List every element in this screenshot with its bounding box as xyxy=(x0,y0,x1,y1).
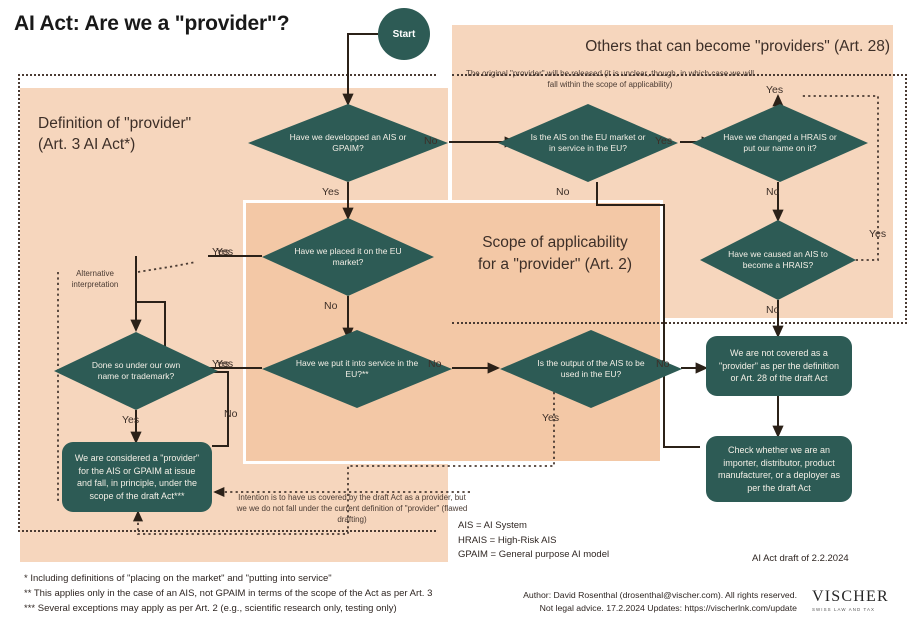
result-check-importer-distributor-label: Check whether we are an importer, distri… xyxy=(714,444,844,494)
footnote-2: ** This applies only in the case of an A… xyxy=(24,586,432,601)
decision-own-name-or-trademark-label: Done so under our own name or trademark? xyxy=(54,360,218,382)
decision-ais-on-eu-market-label: Is the AIS on the EU market or in servic… xyxy=(498,132,678,154)
panel-definition-title-line2: (Art. 3 AI Act*) xyxy=(38,134,288,155)
footnote-3: *** Several exceptions may apply as per … xyxy=(24,601,432,616)
legend-item-gpaim: GPAIM = General purpose AI model xyxy=(458,548,609,563)
decision-developed-ais-or-gpaim-label: Have we developped an AIS or GPAIM? xyxy=(248,132,448,154)
author-line-1: Author: David Rosenthal (drosenthal@visc… xyxy=(512,589,797,602)
edge-label-output-eu-yes: Yes xyxy=(542,412,559,424)
note-intention: Intention is to have us covered by the d… xyxy=(232,492,472,525)
edge-label-changed-hrais-no: No xyxy=(766,186,779,198)
decision-changed-hrais-label: Have we changed a HRAIS or put our name … xyxy=(692,132,868,154)
start-node-label: Start xyxy=(393,29,416,40)
panel-definition-title: Definition of "provider" (Art. 3 AI Act*… xyxy=(38,113,288,155)
author-line-2: Not legal advice. 17.2.2024 Updates: htt… xyxy=(512,602,797,615)
edge-label-developed-no: No xyxy=(424,135,437,147)
start-node[interactable]: Start xyxy=(378,8,430,60)
draft-date: AI Act draft of 2.2.2024 xyxy=(752,553,849,564)
edge-label-ais-on-market-no: No xyxy=(556,186,569,198)
edge-label-ais-on-market-yes: Yes xyxy=(655,135,672,147)
result-not-covered-as-provider[interactable]: We are not covered as a "provider" as pe… xyxy=(706,336,852,396)
edge-label-caused-hrais-no: No xyxy=(766,304,779,316)
edge-label-caused-hrais-yes: Yes xyxy=(869,228,886,240)
edge-label-own-name-no: No xyxy=(224,408,237,420)
author-credit: Author: David Rosenthal (drosenthal@visc… xyxy=(512,589,797,615)
panel-art28-title: Others that can become "providers" (Art.… xyxy=(470,36,890,57)
result-considered-provider[interactable]: We are considered a "provider" for the A… xyxy=(62,442,212,512)
edge-label-placed-market-no: No xyxy=(324,300,337,312)
footnotes: * Including definitions of "placing on t… xyxy=(24,571,432,616)
note-alternative-interpretation: Alternative interpretation xyxy=(52,268,138,290)
dotted-group-art28 xyxy=(452,74,907,324)
edge-label-output-eu-no: No xyxy=(656,358,669,370)
panel-scope-title-line1: Scope of applicability xyxy=(455,232,655,254)
page-title: AI Act: Are we a "provider"? xyxy=(14,12,289,36)
legend: AIS = AI System HRAIS = High-Risk AIS GP… xyxy=(458,519,609,563)
edge-label-changed-hrais-yes: Yes xyxy=(766,84,783,96)
vischer-logo: VISCHER SWISS LAW AND TAX xyxy=(812,588,889,612)
legend-item-hrais: HRAIS = High-Risk AIS xyxy=(458,534,609,549)
result-check-importer-distributor[interactable]: Check whether we are an importer, distri… xyxy=(706,436,852,502)
edge-label-developed-yes: Yes xyxy=(322,186,339,198)
edge-label-put-service-no: No xyxy=(428,358,441,370)
vischer-logo-tagline: SWISS LAW AND TAX xyxy=(812,607,889,612)
footnote-1: * Including definitions of "placing on t… xyxy=(24,571,432,586)
result-considered-provider-label: We are considered a "provider" for the A… xyxy=(70,452,204,502)
note-original-provider: The original "provider" will be released… xyxy=(460,68,760,90)
result-not-covered-as-provider-label: We are not covered as a "provider" as pe… xyxy=(714,347,844,385)
panel-scope-title: Scope of applicability for a "provider" … xyxy=(455,232,655,276)
edge-label-own-name-yes: Yes xyxy=(122,414,139,426)
decision-caused-ais-become-hrais-label: Have we caused an AIS to become a HRAIS? xyxy=(700,249,856,271)
panel-scope-title-line2: for a "provider" (Art. 2) xyxy=(455,254,655,276)
panel-definition-title-line1: Definition of "provider" xyxy=(38,113,288,134)
legend-item-ais: AIS = AI System xyxy=(458,519,609,534)
decision-output-used-in-eu-label: Is the output of the AIS to be used in t… xyxy=(500,358,682,380)
decision-placed-on-eu-market-label: Have we placed it on the EU market? xyxy=(262,246,434,268)
decision-put-into-service-eu-label: Have we put it into service in the EU?** xyxy=(262,358,452,380)
vischer-logo-wordmark: VISCHER xyxy=(812,588,889,606)
